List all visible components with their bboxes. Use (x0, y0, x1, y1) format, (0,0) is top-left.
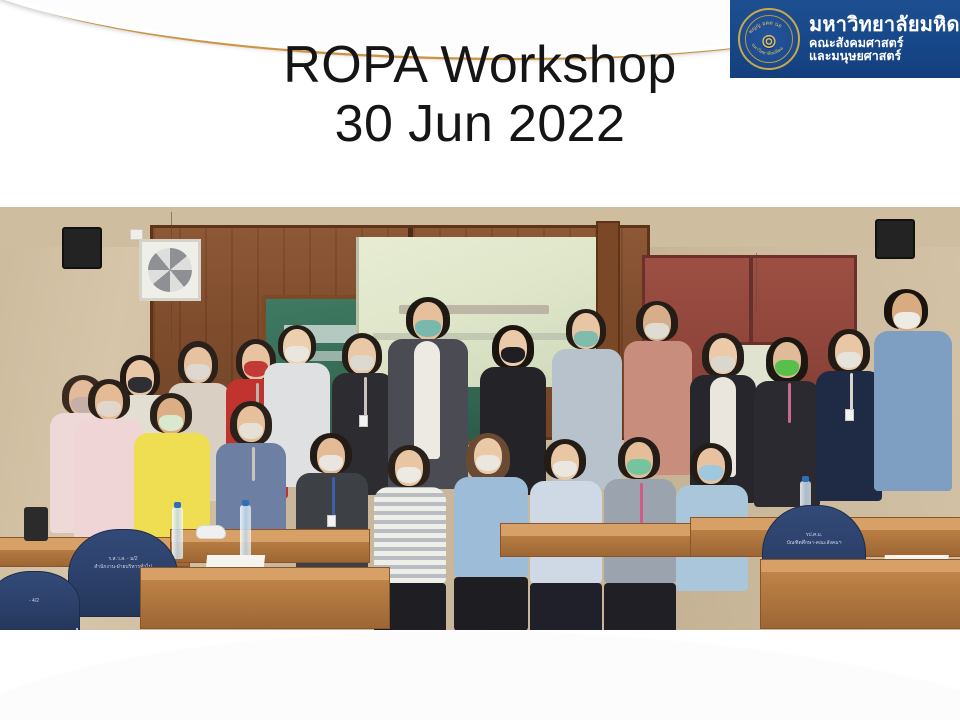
chair-label-line-1c: รป.ศ.ม. (763, 532, 865, 540)
title-line-1: ROPA Workshop (0, 36, 960, 95)
exhaust-fan-icon (139, 239, 201, 301)
door-pull-cord (756, 253, 757, 311)
classroom-desk-3 (500, 523, 710, 557)
logo-university-name: มหาวิทยาลัยมหิดล (809, 15, 960, 36)
water-bottle-1 (172, 507, 183, 559)
chair-label-line-1: ร.ส.ว.ส. - ม/2 (69, 556, 177, 564)
chair-label-line-1b: - 4/2 (0, 598, 79, 606)
fan-blades (148, 248, 192, 292)
title-line-2: 30 Jun 2022 (0, 95, 960, 154)
slide-title: ROPA Workshop 30 Jun 2022 (0, 36, 960, 154)
chair-label-line-2c: บัณฑิตศึกษา-คณะสังคมฯ (763, 540, 865, 548)
waste-bin (24, 507, 48, 541)
ceiling-speaker-left-icon (62, 227, 102, 269)
group-photo: ร.ส.ว.ส. - ม/2 สำนักงาน-ฝ่ายบริหารทั่วไป… (0, 207, 960, 630)
water-bottle-2 (240, 505, 251, 559)
ceiling-speaker-right-icon (875, 219, 915, 259)
classroom-desk-front-left (140, 567, 390, 629)
presentation-slide: พญญ อตต นอ มหาวิทยาลัยมหิดล ๏ มหาวิทยาลั… (0, 0, 960, 720)
shoes-on-floor (196, 525, 226, 539)
bottom-white-swoosh (0, 628, 960, 720)
bottom-decoration-band (0, 628, 960, 720)
svg-text:พญญ อตต นอ: พญญ อตต นอ (748, 20, 783, 35)
chair-row-label-2: - 4/2 (0, 571, 80, 630)
classroom-desk-front-right (760, 559, 960, 629)
